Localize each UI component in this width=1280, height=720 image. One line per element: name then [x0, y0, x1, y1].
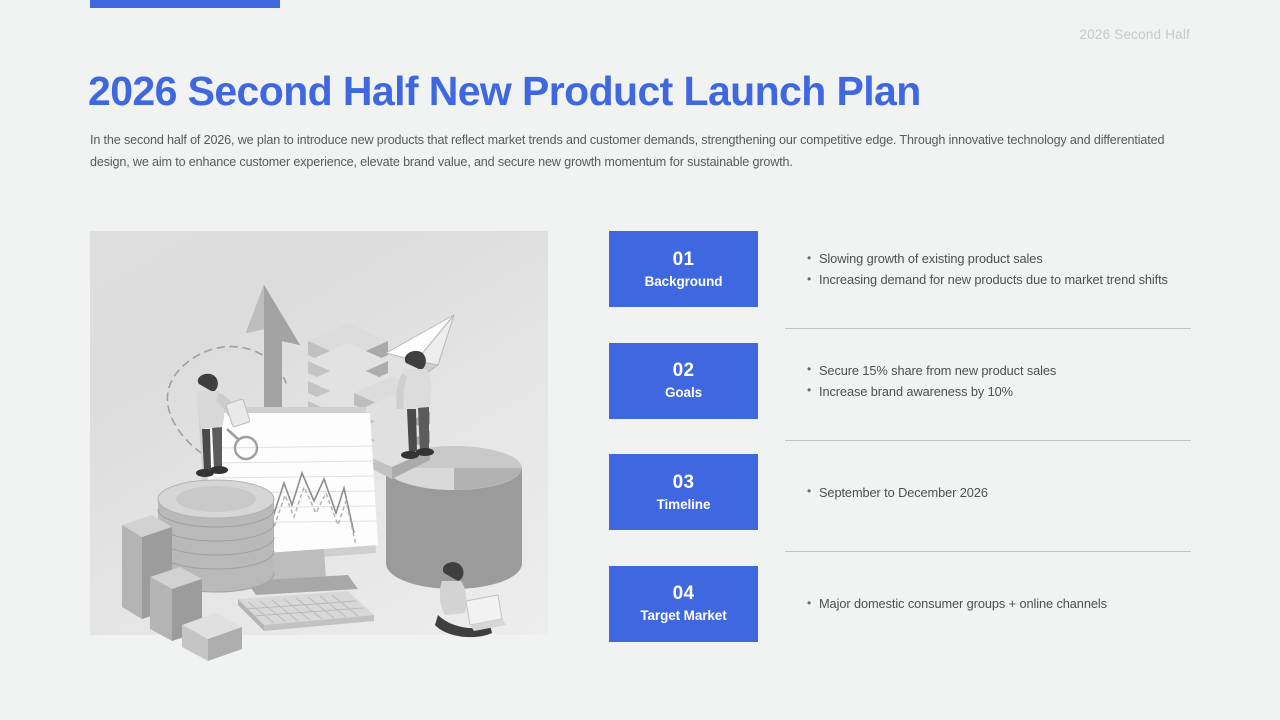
- business-growth-illustration: [86, 233, 556, 663]
- plan-row: 03 Timeline September to December 2026: [609, 454, 1191, 530]
- section-badge-04[interactable]: 04 Target Market: [609, 566, 758, 642]
- page-title: 2026 Second Half New Product Launch Plan: [88, 63, 921, 119]
- section-badge-01[interactable]: 01 Background: [609, 231, 758, 307]
- accent-bar: [90, 0, 280, 8]
- section-content: September to December 2026: [758, 454, 1191, 530]
- section-content: Major domestic consumer groups + online …: [758, 566, 1191, 642]
- corner-label: 2026 Second Half: [1079, 27, 1190, 42]
- section-number: 02: [673, 359, 695, 382]
- plan-sections: 01 Background Slowing growth of existing…: [609, 231, 1191, 641]
- row-divider: [785, 440, 1191, 441]
- row-divider: [785, 328, 1191, 329]
- section-number: 03: [673, 471, 695, 494]
- bullet-list: Slowing growth of existing product sales…: [807, 248, 1191, 290]
- section-badge-02[interactable]: 02 Goals: [609, 343, 758, 419]
- section-badge-03[interactable]: 03 Timeline: [609, 454, 758, 530]
- plan-row: 02 Goals Secure 15% share from new produ…: [609, 343, 1191, 419]
- description-paragraph: In the second half of 2026, we plan to i…: [90, 129, 1185, 173]
- row-divider: [785, 551, 1191, 552]
- bullet-item: Slowing growth of existing product sales: [807, 248, 1191, 269]
- section-content: Secure 15% share from new product sales …: [758, 343, 1191, 419]
- section-category: Timeline: [657, 495, 711, 514]
- section-number: 01: [673, 248, 695, 271]
- section-category: Target Market: [640, 606, 726, 625]
- bullet-item: Increase brand awareness by 10%: [807, 381, 1191, 402]
- bullet-list: September to December 2026: [807, 482, 1191, 503]
- illustration-panel: [90, 231, 548, 635]
- bullet-list: Major domestic consumer groups + online …: [807, 593, 1191, 614]
- plan-row: 01 Background Slowing growth of existing…: [609, 231, 1191, 307]
- section-category: Background: [645, 272, 723, 291]
- plan-row: 04 Target Market Major domestic consumer…: [609, 566, 1191, 642]
- section-category: Goals: [665, 383, 702, 402]
- bullet-item: Increasing demand for new products due t…: [807, 269, 1191, 290]
- bullet-list: Secure 15% share from new product sales …: [807, 360, 1191, 402]
- bullet-item: September to December 2026: [807, 482, 1191, 503]
- section-number: 04: [673, 582, 695, 605]
- bullet-item: Secure 15% share from new product sales: [807, 360, 1191, 381]
- section-content: Slowing growth of existing product sales…: [758, 231, 1191, 307]
- slide-canvas: 2026 Second Half 2026 Second Half New Pr…: [0, 0, 1280, 720]
- bullet-item: Major domestic consumer groups + online …: [807, 593, 1191, 614]
